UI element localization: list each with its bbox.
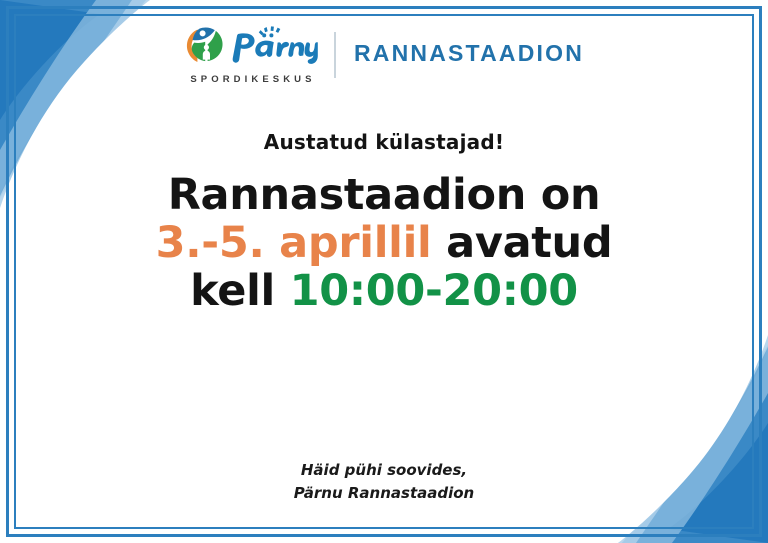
headline-line-3: kell 10:00-20:00 <box>156 267 613 315</box>
logo-divider <box>334 32 336 78</box>
parnu-sports-centre-logo: SPORDIKESKUS <box>184 25 318 85</box>
footer-line-2: Pärnu Rannastaadion <box>0 482 768 505</box>
footer-signature: Häid pühi soovides, Pärnu Rannastaadion <box>0 459 768 505</box>
headline-block: Rannastaadion on 3.-5. aprillil avatud k… <box>156 171 613 315</box>
footer-line-1: Häid pühi soovides, <box>0 459 768 482</box>
venue-title: RANNASTAADION <box>354 40 584 67</box>
poster-canvas: SPORDIKESKUS RANNASTAADION Austatud küla… <box>0 0 768 543</box>
opening-word: avatud <box>446 218 612 268</box>
opening-dates: 3.-5. aprillil <box>156 218 432 268</box>
logo-subtitle: SPORDIKESKUS <box>190 74 315 85</box>
logo-bar: SPORDIKESKUS RANNASTAADION <box>184 24 584 86</box>
opening-hours: 10:00-20:00 <box>290 266 578 316</box>
headline-line-1: Rannastaadion on <box>156 171 613 219</box>
parnu-wordmark-icon <box>232 26 318 68</box>
hours-prefix: kell <box>190 266 275 316</box>
salutation-text: Austatud külastajad! <box>264 130 504 154</box>
parnu-sports-centre-emblem-icon <box>184 25 226 69</box>
headline-line-2: 3.-5. aprillil avatud <box>156 219 613 267</box>
